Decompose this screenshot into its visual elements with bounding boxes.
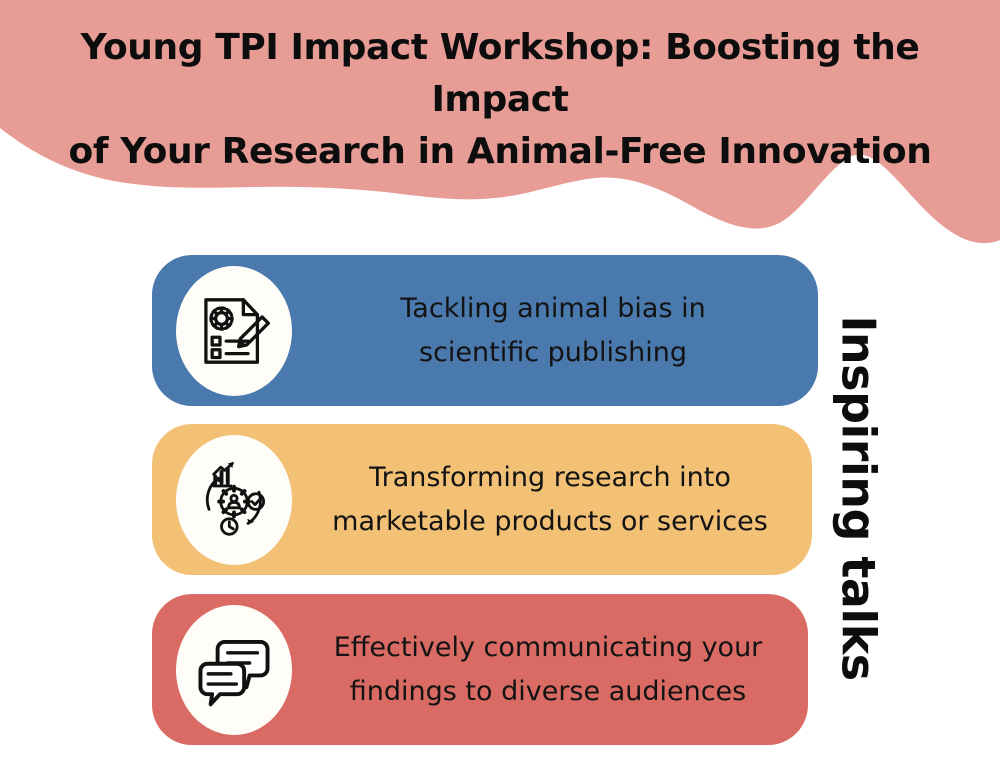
innovation-cycle-gear-person-icon xyxy=(195,461,273,539)
poster-canvas: Young TPI Impact Workshop: Boosting the … xyxy=(0,0,1000,760)
page-title: Young TPI Impact Workshop: Boosting the … xyxy=(0,22,1000,178)
talk-card-1[interactable]: Tackling animal bias in scientific publi… xyxy=(152,255,818,406)
side-label-text: Inspiring talks xyxy=(831,315,887,680)
talk-card-1-label: Tackling animal bias in scientific publi… xyxy=(302,255,804,406)
document-gear-checklist-pencil-icon xyxy=(195,292,273,370)
icon-badge xyxy=(176,435,292,565)
talk-card-2-label: Transforming research into marketable pr… xyxy=(302,424,798,575)
side-label: Inspiring talks xyxy=(829,270,889,730)
talk-card-3[interactable]: Effectively communicating your findings … xyxy=(152,594,808,745)
speech-bubbles-icon xyxy=(195,631,273,709)
icon-badge xyxy=(176,605,292,735)
talk-card-2[interactable]: Transforming research into marketable pr… xyxy=(152,424,812,575)
icon-badge xyxy=(176,266,292,396)
talk-card-3-label: Effectively communicating your findings … xyxy=(302,594,794,745)
